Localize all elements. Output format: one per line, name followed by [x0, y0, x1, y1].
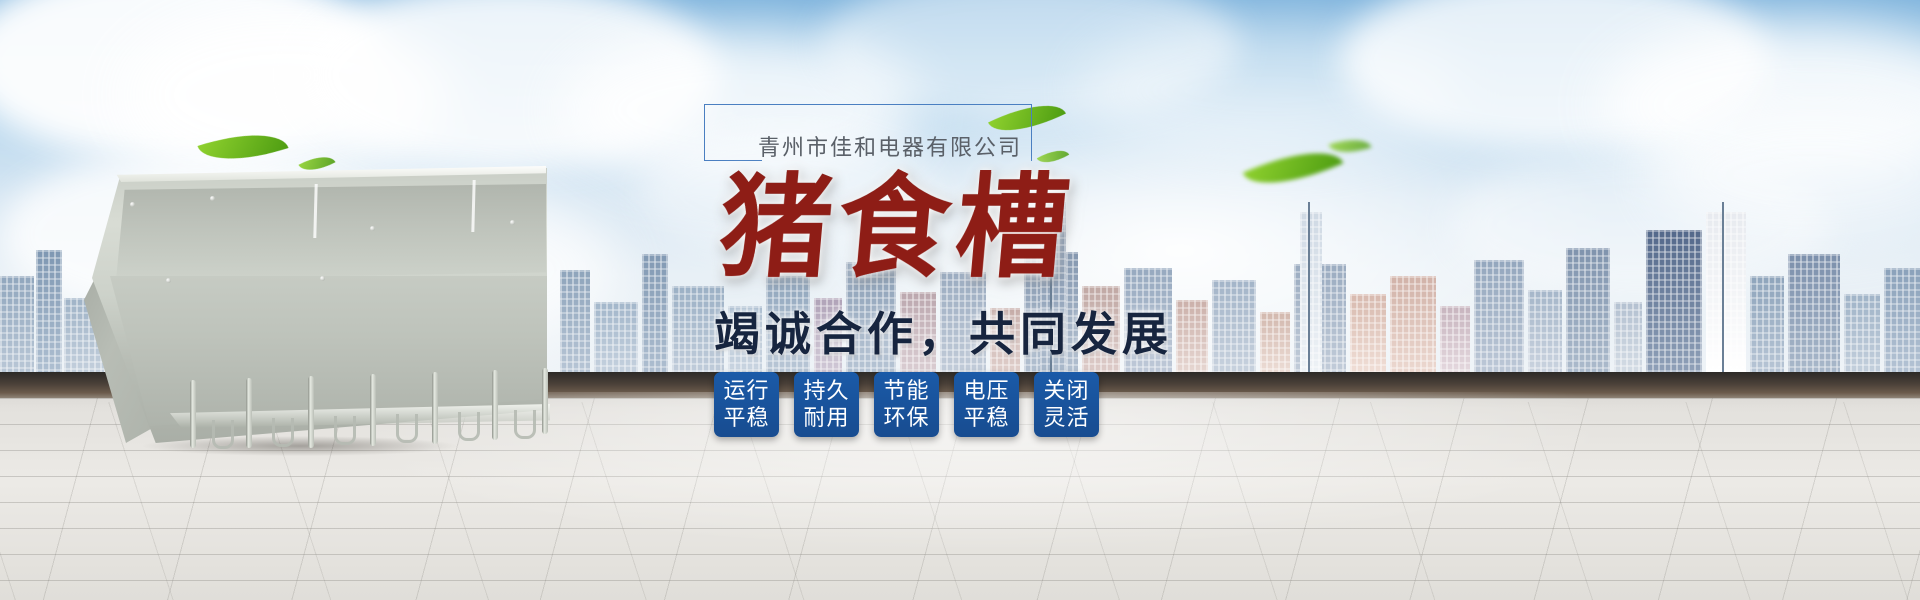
feature-badge[interactable]: 电压 平稳 [954, 372, 1019, 437]
building [1844, 294, 1880, 372]
feature-badge[interactable]: 运行 平稳 [714, 372, 779, 437]
company-name: 青州市佳和电器有限公司 [758, 130, 1022, 162]
promo-banner: 青州市佳和电器有限公司 猪食槽 竭诚合作，共同发展 运行 平稳 持久 耐用 节能… [0, 0, 1920, 600]
trough-hook [458, 412, 480, 441]
tower-building [1646, 230, 1702, 372]
feature-badge[interactable]: 持久 耐用 [794, 372, 859, 437]
feature-badge[interactable]: 关闭 灵活 [1034, 372, 1099, 437]
building [1884, 268, 1920, 372]
badge-line-1: 节能 [883, 378, 929, 405]
trough-divider [432, 372, 438, 444]
badge-line-1: 运行 [723, 378, 769, 405]
building [594, 302, 638, 372]
headline-title: 猪食槽 [715, 172, 1079, 284]
subheadline-slogan: 竭诚合作，共同发展 [714, 298, 1173, 364]
badge-line-2: 灵活 [1043, 405, 1089, 432]
trough-divider [190, 380, 196, 448]
trough-hook [212, 420, 234, 449]
building [642, 254, 668, 372]
tower-building [1706, 212, 1746, 372]
trough-hook [396, 414, 418, 443]
building [1474, 260, 1524, 372]
badge-line-1: 持久 [803, 378, 849, 405]
badge-line-2: 平稳 [963, 405, 1009, 432]
building [36, 250, 62, 372]
feature-badge-list: 运行 平稳 持久 耐用 节能 环保 电压 平稳 关闭 灵活 [714, 372, 1099, 437]
trough-inner-wall [116, 184, 546, 280]
trough-divider [370, 374, 376, 446]
building [1566, 248, 1610, 372]
badge-line-1: 电压 [963, 378, 1009, 405]
badge-line-2: 平稳 [723, 405, 769, 432]
trough-hook [514, 410, 536, 439]
badge-line-1: 关闭 [1043, 378, 1089, 405]
badge-line-2: 环保 [883, 405, 929, 432]
product-photo-pig-feeding-trough [70, 158, 570, 458]
trough-divider [246, 378, 252, 448]
badge-line-2: 耐用 [803, 405, 849, 432]
trough-divider [542, 368, 548, 434]
feature-badge[interactable]: 节能 环保 [874, 372, 939, 437]
building [1528, 290, 1562, 372]
building [0, 276, 34, 372]
trough-hook [272, 418, 294, 447]
building [1788, 254, 1840, 372]
trough-divider [492, 370, 498, 440]
trough-hook [334, 416, 356, 445]
banner-copy: 青州市佳和电器有限公司 猪食槽 竭诚合作，共同发展 运行 平稳 持久 耐用 节能… [700, 100, 1480, 560]
building [1750, 276, 1784, 372]
trough-divider [308, 376, 314, 448]
building [1614, 302, 1642, 372]
